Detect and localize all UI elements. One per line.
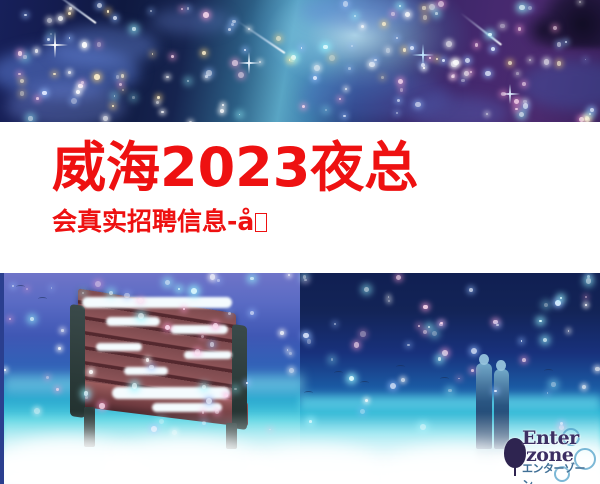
- star-icon: [26, 288, 28, 290]
- snow-patch: [82, 297, 232, 308]
- star-icon: [61, 329, 63, 331]
- snow-patch: [152, 403, 222, 412]
- star-icon: [191, 288, 197, 294]
- star-icon: [217, 279, 219, 281]
- star-icon: [58, 347, 61, 350]
- snow-patch: [124, 367, 168, 375]
- bird-icon: [440, 377, 449, 381]
- article-title-block: 威海2023夜总 会真实招聘信息-å: [0, 122, 600, 273]
- snow-patch: [170, 325, 228, 334]
- bench-arm-left: [70, 304, 85, 418]
- bird-icon: [396, 365, 405, 369]
- snow-patch: [184, 351, 232, 359]
- figure-head: [496, 360, 506, 371]
- star-icon: [280, 331, 284, 335]
- figure-head: [479, 354, 489, 365]
- star-icon: [287, 349, 289, 351]
- star-icon: [12, 285, 14, 287]
- foliage-silhouette: [520, 14, 566, 48]
- page-title: 威海2023夜总: [52, 136, 600, 200]
- snow-patch: [112, 387, 230, 399]
- star-icon: [9, 318, 11, 320]
- hero-top-image: [0, 0, 600, 122]
- bird-icon: [334, 371, 343, 375]
- star-icon: [95, 281, 101, 287]
- snow-patch: [106, 317, 160, 326]
- bird-icon: [544, 369, 553, 373]
- missing-glyph-icon: [255, 213, 267, 232]
- bird-icon: [304, 391, 313, 395]
- star-icon: [210, 274, 215, 279]
- snow-patch: [96, 343, 142, 351]
- star-icon: [165, 280, 170, 285]
- star-icon: [288, 274, 290, 276]
- star-icon: [250, 277, 254, 281]
- page-subtitle: 会真实招聘信息-å: [52, 206, 600, 238]
- winter-night-scene: [4, 273, 600, 484]
- star-icon: [178, 288, 180, 290]
- bird-icon: [38, 297, 47, 301]
- bird-icon: [16, 285, 25, 289]
- hero-bottom-image: Enter zone エンターゾーン: [0, 273, 600, 484]
- bird-icon: [360, 381, 369, 385]
- star-icon: [289, 352, 292, 355]
- night-sky-gradient: [0, 0, 600, 122]
- page-subtitle-text: 会真实招聘信息-å: [52, 207, 254, 236]
- page-root: 威海2023夜总 会真实招聘信息-å: [0, 0, 600, 484]
- star-icon: [51, 287, 53, 289]
- star-icon: [30, 317, 34, 321]
